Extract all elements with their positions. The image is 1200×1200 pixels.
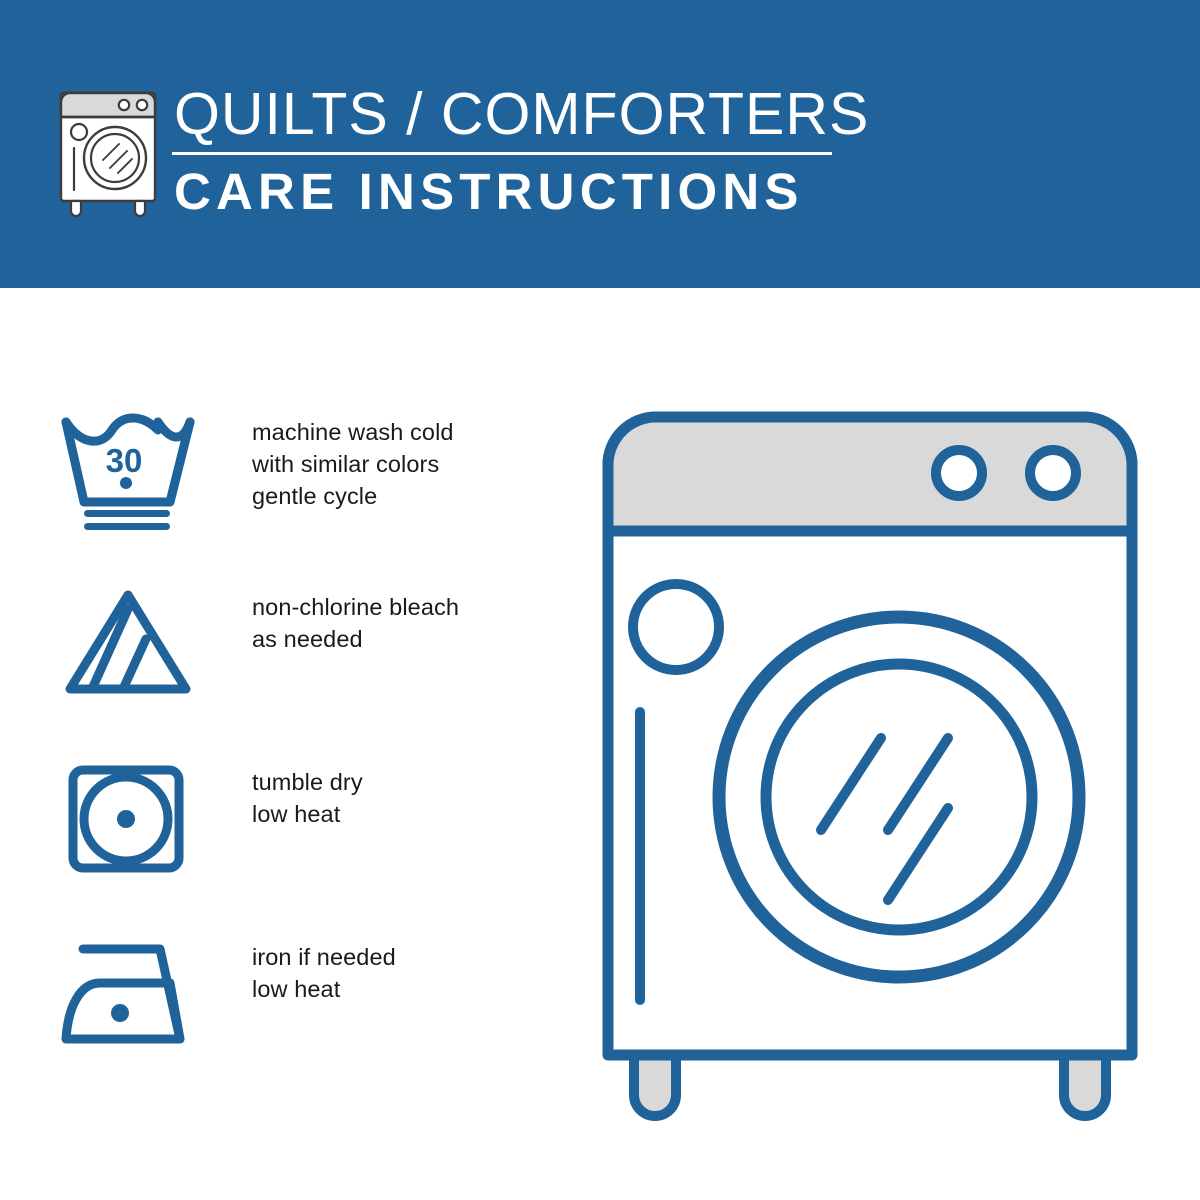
care-line: low heat bbox=[252, 973, 396, 1005]
title-divider bbox=[172, 152, 832, 155]
care-instructions-page: QUILTS / COMFORTERS CARE INSTRUCTIONS 30 bbox=[0, 0, 1200, 1200]
care-line: low heat bbox=[252, 798, 363, 830]
page-subtitle: CARE INSTRUCTIONS bbox=[172, 165, 832, 219]
care-line: gentle cycle bbox=[252, 480, 454, 512]
care-text-iron: iron if needed low heat bbox=[252, 941, 396, 1005]
care-row-bleach: non-chlorine bleach as needed bbox=[0, 585, 520, 760]
care-row-iron: iron if needed low heat bbox=[0, 935, 520, 1110]
care-text-tumble-dry: tumble dry low heat bbox=[252, 766, 363, 830]
care-line: machine wash cold bbox=[252, 416, 454, 448]
front-load-washing-machine-illustration bbox=[596, 405, 1156, 1125]
triangle-non-chlorine-bleach-icon bbox=[58, 585, 198, 705]
page-title: QUILTS / COMFORTERS bbox=[172, 84, 832, 152]
care-row-tumble-dry: tumble dry low heat bbox=[0, 760, 520, 935]
care-line: iron if needed bbox=[252, 941, 396, 973]
wash-temperature-value: 30 bbox=[106, 442, 143, 479]
care-instruction-list: 30 machine wash cold with similar colors… bbox=[0, 410, 520, 1110]
care-line: tumble dry bbox=[252, 766, 363, 798]
wash-tub-30-gentle-icon: 30 bbox=[58, 410, 198, 530]
machine-dial bbox=[633, 584, 719, 670]
header-text-block: QUILTS / COMFORTERS CARE INSTRUCTIONS bbox=[172, 84, 832, 219]
machine-knob-right bbox=[1030, 450, 1076, 496]
care-line: as needed bbox=[252, 623, 459, 655]
care-line: non-chlorine bleach bbox=[252, 591, 459, 623]
care-text-wash: machine wash cold with similar colors ge… bbox=[252, 416, 454, 512]
iron-low-heat-icon bbox=[58, 935, 198, 1055]
care-text-bleach: non-chlorine bleach as needed bbox=[252, 591, 459, 655]
washing-machine-logo-icon bbox=[52, 78, 164, 218]
tumble-dry-low-heat-icon bbox=[58, 760, 198, 880]
machine-knob-left bbox=[936, 450, 982, 496]
care-row-wash: 30 machine wash cold with similar colors… bbox=[0, 410, 520, 585]
page-header: QUILTS / COMFORTERS CARE INSTRUCTIONS bbox=[0, 0, 1200, 288]
care-line: with similar colors bbox=[252, 448, 454, 480]
